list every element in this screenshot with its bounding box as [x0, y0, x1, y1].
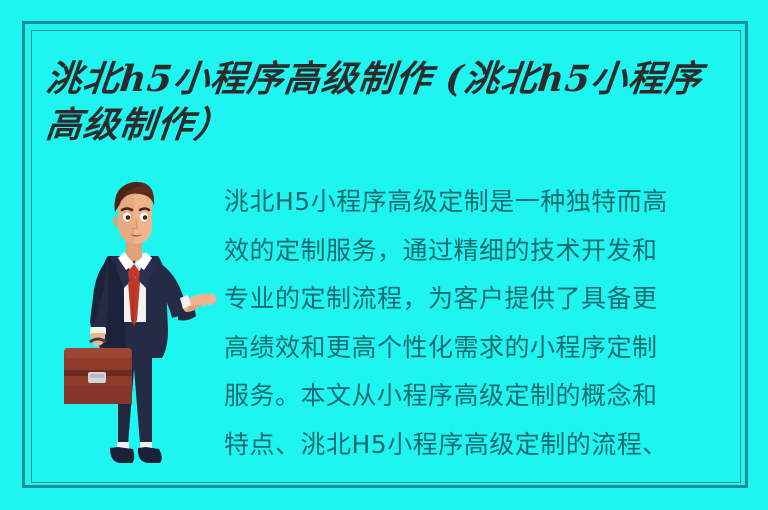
page-title: 洮北h5小程序高级制作 (洮北h5小程序 高级制作）	[46, 56, 726, 148]
body-line: 专业的定制流程，为客户提供了具备更	[224, 275, 739, 324]
body-line: 洮北H5小程序高级定制是一种独特而高	[224, 178, 739, 227]
body-line: 特点、洮北H5小程序高级定制的流程、	[224, 421, 739, 470]
businessman-illustration	[60, 172, 220, 472]
title-line-2: 高级制作）	[44, 102, 729, 148]
title-line-1: 洮北h5小程序高级制作 (洮北h5小程序	[44, 56, 729, 102]
body-line: 服务。本文从小程序高级定制的概念和	[224, 372, 739, 421]
body-line: 效的定制服务，通过精细的技术开发和	[224, 227, 739, 276]
body-line: 高绩效和更高个性化需求的小程序定制	[224, 324, 739, 373]
poster-canvas: 洮北h5小程序高级制作 (洮北h5小程序 高级制作）	[0, 0, 768, 510]
body-paragraph: 洮北H5小程序高级定制是一种独特而高 效的定制服务，通过精细的技术开发和 专业的…	[224, 178, 739, 469]
